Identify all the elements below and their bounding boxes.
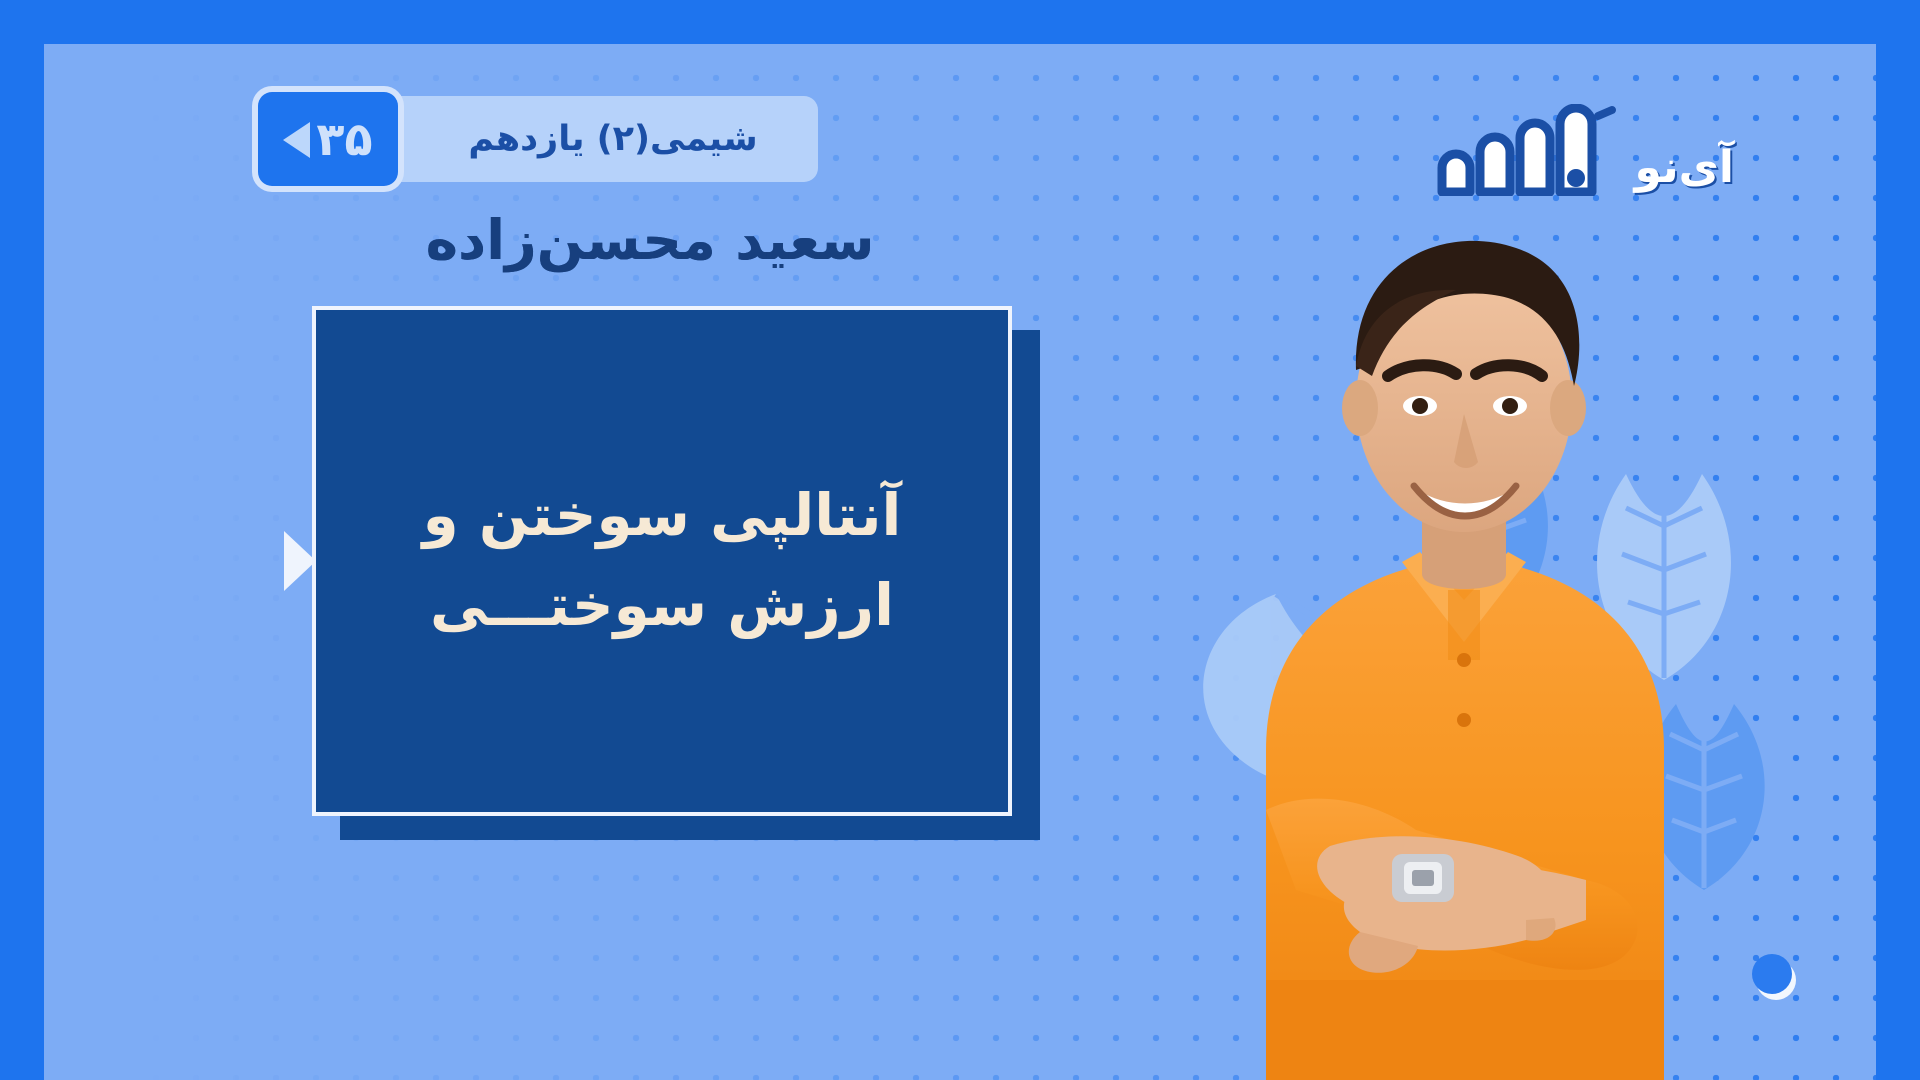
lesson-title: آنتالپی سوختن و ارزش سوختـــی	[312, 471, 1012, 651]
lesson-title-panel: آنتالپی سوختن و ارزش سوختـــی	[312, 306, 1012, 816]
episode-badge: ۳۵	[258, 92, 398, 186]
lesson-title-line-2: ارزش سوختـــی	[342, 561, 982, 651]
lesson-title-line-1: آنتالپی سوختن و	[342, 471, 982, 561]
play-triangle-icon	[283, 122, 310, 158]
brand-logo: آی‌نو	[1430, 104, 1734, 196]
episode-number: ۳۵	[316, 116, 372, 162]
instructor-portrait-photo	[1116, 190, 1756, 1080]
ino-bars-logo-icon	[1430, 104, 1620, 196]
slide-canvas: شیمی(۲) یازدهم ۳۵ سعید محسن‌زاده آی‌نو آ…	[0, 0, 1920, 1080]
brand-name: آی‌نو	[1634, 146, 1734, 196]
lesson-header-chip: شیمی(۲) یازدهم ۳۵	[258, 96, 818, 182]
instructor-name: سعید محسن‌زاده	[300, 208, 1000, 272]
chevron-left-icon	[284, 531, 316, 591]
circle-decoration-icon	[1752, 954, 1796, 998]
